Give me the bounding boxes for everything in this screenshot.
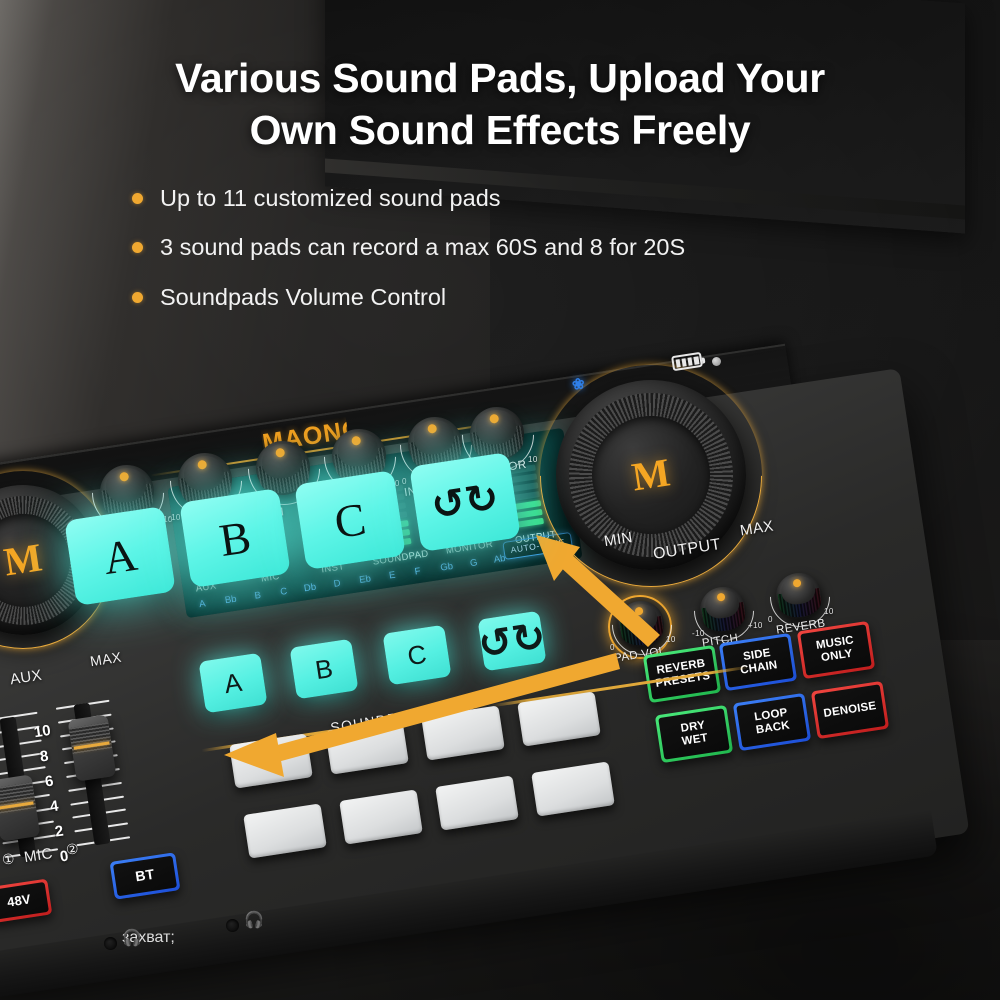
button-face: BT: [113, 856, 177, 897]
note-label: Eb: [359, 573, 372, 586]
button-face: MUSIC ONLY: [800, 624, 872, 675]
marketing-copy: Various Sound Pads, Upload Your Own Soun…: [0, 52, 1000, 332]
list-item: Up to 11 customized sound pads: [132, 183, 940, 214]
button-label-line2: WET: [681, 732, 709, 748]
bullet-text: Soundpads Volume Control: [160, 282, 446, 313]
list-item: 3 sound pads can record a max 60S and 8 …: [132, 232, 940, 263]
knob-max-tick: 10: [824, 607, 834, 616]
feature-bullet-list: Up to 11 customized sound pads 3 sound p…: [132, 183, 940, 313]
mic-channel-2-label: ②: [65, 840, 80, 859]
headphone-icon: 🎧: [122, 928, 142, 948]
knob-min-tick: 0: [402, 477, 407, 486]
button-face: LOOP BACK: [736, 696, 808, 747]
knob-max-tick: +10: [748, 621, 763, 630]
fader-scale-10: 10: [33, 722, 52, 741]
title-line-2: Own Sound Effects Freely: [250, 107, 751, 153]
knob-min-tick: -10: [168, 513, 181, 522]
button-label-line1: DENOISE: [823, 700, 877, 720]
note-label: Gb: [440, 561, 454, 574]
audio-mixer-device: MAONO AUX MIC INST SOUNDPAD MONITOR OUTP…: [0, 345, 1000, 1000]
callout-pad-c: C: [294, 470, 406, 570]
bullet-dot-icon: [132, 242, 143, 253]
callout-arrow-down-left: [180, 625, 660, 825]
headphone-jack-1-port[interactable]: [104, 937, 117, 950]
callout-pad-b: B: [179, 488, 291, 588]
mic-channel-1-label: ①: [1, 850, 16, 869]
note-label: Db: [303, 582, 317, 595]
button-face: SIDE CHAIN: [722, 636, 794, 687]
callout-pad-loop: ↺↻: [409, 452, 521, 552]
bluetooth-icon: ❀: [571, 374, 586, 394]
note-label: C: [279, 586, 287, 598]
note-label: F: [414, 566, 421, 578]
callout-pad-label: A: [100, 527, 141, 584]
power-led-icon: [712, 357, 721, 366]
loop-icon: ↺↻: [428, 474, 501, 530]
list-item: Soundpads Volume Control: [132, 282, 940, 313]
button-label: 48V: [6, 892, 32, 910]
button-face: 48V: [0, 882, 49, 920]
note-label: D: [333, 578, 341, 590]
note-label: Bb: [224, 594, 237, 607]
title-line-1: Various Sound Pads, Upload Your: [175, 55, 825, 101]
note-label: G: [469, 557, 478, 569]
headphone-icon: 🎧: [244, 910, 264, 930]
button-face: DRY WET: [658, 708, 730, 759]
button-face: DENOISE: [814, 684, 886, 735]
callout-pad-label: C: [331, 492, 369, 549]
knob-max-tick: 10: [528, 455, 538, 464]
page-title: Various Sound Pads, Upload Your Own Soun…: [60, 52, 940, 157]
callout-pad-label: B: [216, 510, 254, 567]
knob-min-tick: 0: [768, 615, 773, 624]
bullet-text: 3 sound pads can record a max 60S and 8 …: [160, 232, 685, 263]
bullet-dot-icon: [132, 193, 143, 204]
headphone-jack-2-port[interactable]: [226, 919, 239, 932]
bullet-dot-icon: [132, 292, 143, 303]
callout-pad-a: A: [64, 506, 176, 606]
bullet-text: Up to 11 customized sound pads: [160, 183, 501, 214]
button-label: BT: [134, 867, 155, 885]
